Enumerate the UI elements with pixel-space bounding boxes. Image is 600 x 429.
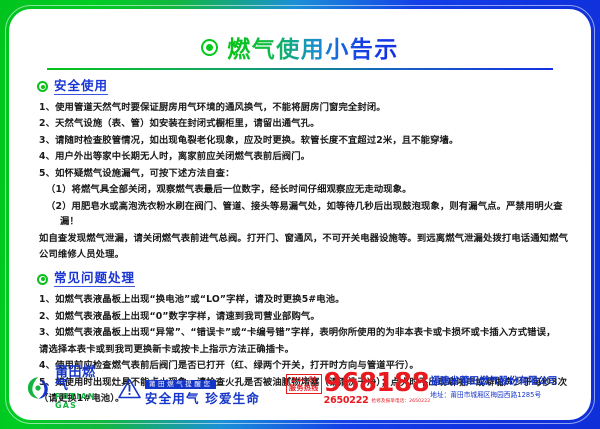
section-heading-row: 安全使用 bbox=[37, 79, 575, 95]
hotline-badge: 24小时 服务热线 bbox=[286, 374, 322, 395]
service-hotline: 24小时 服务热线 968188 2650222 抢修及报单电话：2650222 bbox=[286, 371, 430, 405]
list-item: 1、如燃气表液晶板上出现“换电池”或“LO”字样，请及时更换5#电池。 bbox=[39, 292, 575, 307]
hotline-number-block: 968188 2650222 抢修及报单电话：2650222 bbox=[324, 371, 431, 405]
hotline-badge-line1: 24小时 bbox=[289, 376, 319, 384]
slogan-banner: 莆田燃气提醒您 bbox=[145, 380, 216, 389]
company-address: 地址：莆田市城厢区梅园西路1285号 bbox=[430, 391, 541, 400]
logo-name-en: PUTIAN GAS bbox=[55, 393, 96, 411]
hotline-badge-line2: 服务热线 bbox=[289, 384, 319, 392]
list-item: 2、天然气设施（表、管）如安装在封闭式橱柜里，请留出通气孔。 bbox=[39, 116, 575, 131]
logo-name-cn: 莆田燃气 bbox=[55, 366, 96, 393]
slogan-main: 安全用气 珍爱生命 bbox=[145, 391, 260, 406]
warning-triangle-icon bbox=[118, 378, 141, 399]
list-item: 4、用户外出等家中长期无人时，离家前应关闭燃气表前后阀门。 bbox=[39, 149, 575, 164]
poster-title-row: 燃气使用小告示 bbox=[25, 30, 575, 64]
list-item: 公司维修人员处理。 bbox=[39, 247, 575, 262]
gas-swirl-logo-icon bbox=[25, 375, 51, 401]
title-underline bbox=[47, 68, 553, 70]
list-item: 请选择本表卡或到我司更换新卡或按卡上指示方法正确插卡。 bbox=[39, 342, 575, 357]
company-name: 福建省莆田燃气股份有限公司 bbox=[430, 376, 557, 388]
safety-slogan: 莆田燃气提醒您 安全用气 珍爱生命 bbox=[118, 371, 260, 406]
hotline-sub-number[interactable]: 2650222 bbox=[324, 396, 369, 406]
section-title-faq: 常见问题处理 bbox=[54, 271, 135, 287]
list-item: （1）将燃气具全部关闭，观察燃气表最后一位数字，经长时间仔细观察应无走动现象。 bbox=[39, 182, 575, 197]
section-title-safe-use: 安全使用 bbox=[54, 79, 108, 95]
page-title: 燃气使用小告示 bbox=[227, 30, 399, 64]
list-item: 5、如怀疑燃气设施漏气，可按下述方法自查： bbox=[39, 166, 575, 181]
hotline-number[interactable]: 968188 bbox=[324, 371, 431, 396]
logo-text-block: 莆田燃气 PUTIAN GAS bbox=[55, 366, 96, 411]
section-heading-row: 常见问题处理 bbox=[37, 271, 575, 287]
section-items-safe-use: 1、使用管道天然气时要保证厨房用气环境的通风换气，不能将厨房门窗完全封闭。 2、… bbox=[25, 100, 575, 262]
list-item: 3、如燃气表液晶板上出现“异常”、“错误卡”或“卡编号错”字样，表明你所使用的为… bbox=[39, 325, 575, 340]
poster-card: 燃气使用小告示 安全使用 1、使用管道天然气时要保证厨房用气环境的通风换气，不能… bbox=[9, 9, 591, 420]
list-item: 3、请随时检查胶管情况，如出现龟裂老化现象，应及时更换。软管长度不宜超过2米，且… bbox=[39, 133, 575, 148]
target-circle-icon bbox=[37, 81, 48, 92]
list-item: 2、如燃气表液晶板上出现“0”数字字样，请速到我司营业部购气。 bbox=[39, 309, 575, 324]
list-item: 如自查发现燃气泄漏，请关闭燃气表前进气总阀。打开门、窗通风，不可开关电器设施等。… bbox=[39, 231, 575, 246]
section-safe-use: 安全使用 1、使用管道天然气时要保证厨房用气环境的通风换气，不能将厨房门窗完全封… bbox=[25, 79, 575, 262]
list-item: 1、使用管道天然气时要保证厨房用气环境的通风换气，不能将厨房门窗完全封闭。 bbox=[39, 100, 575, 115]
slogan-text-block: 莆田燃气提醒您 安全用气 珍爱生命 bbox=[145, 371, 260, 406]
target-circle-icon bbox=[37, 274, 48, 285]
target-circle-icon bbox=[201, 39, 218, 56]
poster-frame: 燃气使用小告示 安全使用 1、使用管道天然气时要保证厨房用气环境的通风换气，不能… bbox=[0, 0, 600, 429]
hotline-sub-note: 抢修及报单电话：2650222 bbox=[372, 399, 431, 405]
company-logo: 莆田燃气 PUTIAN GAS bbox=[25, 366, 96, 411]
company-info: 福建省莆田燃气股份有限公司 地址：莆田市城厢区梅园西路1285号 bbox=[430, 376, 591, 400]
list-item: （2）用肥皂水或高泡洗衣粉水刷在阀门、管道、接头等易漏气处，如等待几秒后出现鼓泡… bbox=[39, 199, 575, 229]
poster-footer: 莆田燃气 PUTIAN GAS 莆田燃气提醒您 安全用气 珍爱生命 bbox=[9, 362, 591, 414]
